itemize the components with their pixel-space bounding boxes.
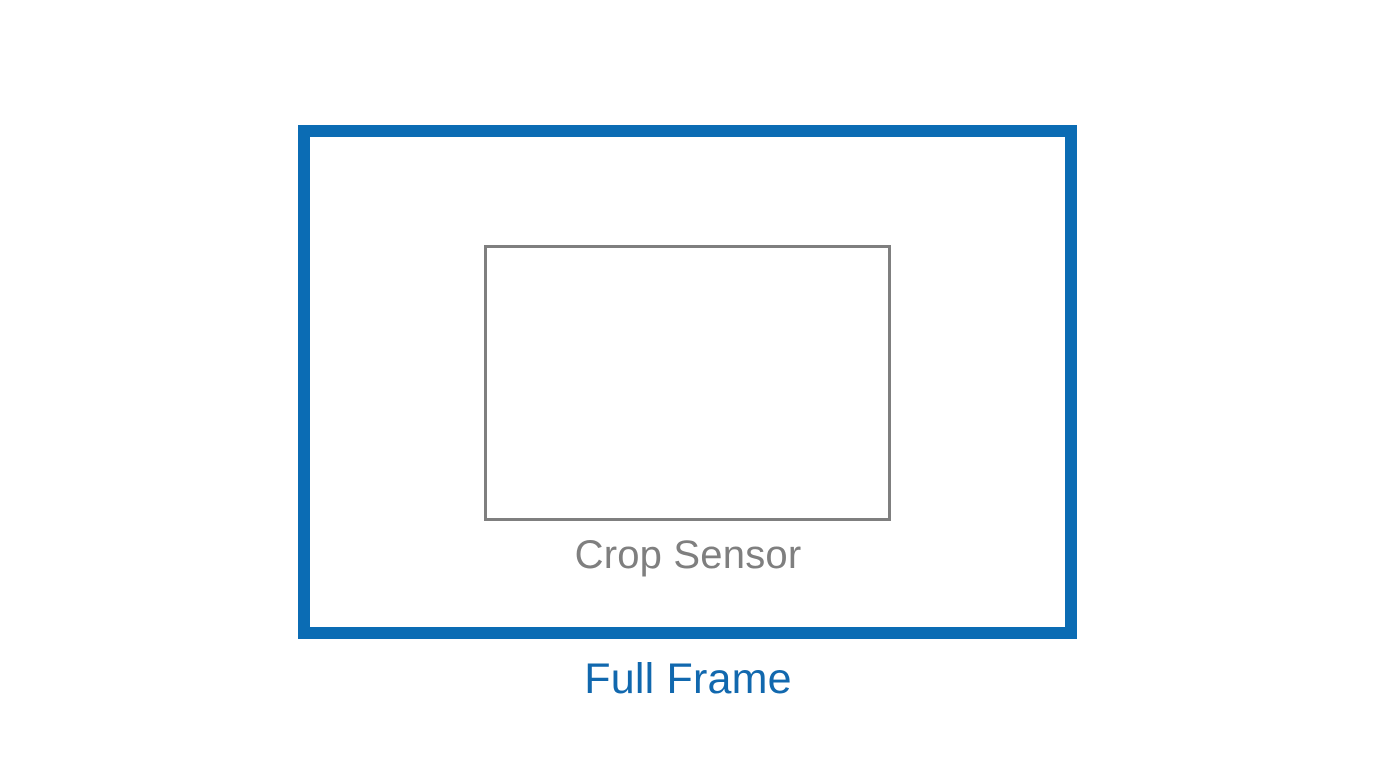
crop-sensor-rectangle [484, 245, 891, 521]
crop-sensor-label: Crop Sensor [0, 530, 1376, 580]
diagram-canvas: Crop Sensor Full Frame [0, 0, 1376, 768]
full-frame-label: Full Frame [0, 652, 1376, 706]
